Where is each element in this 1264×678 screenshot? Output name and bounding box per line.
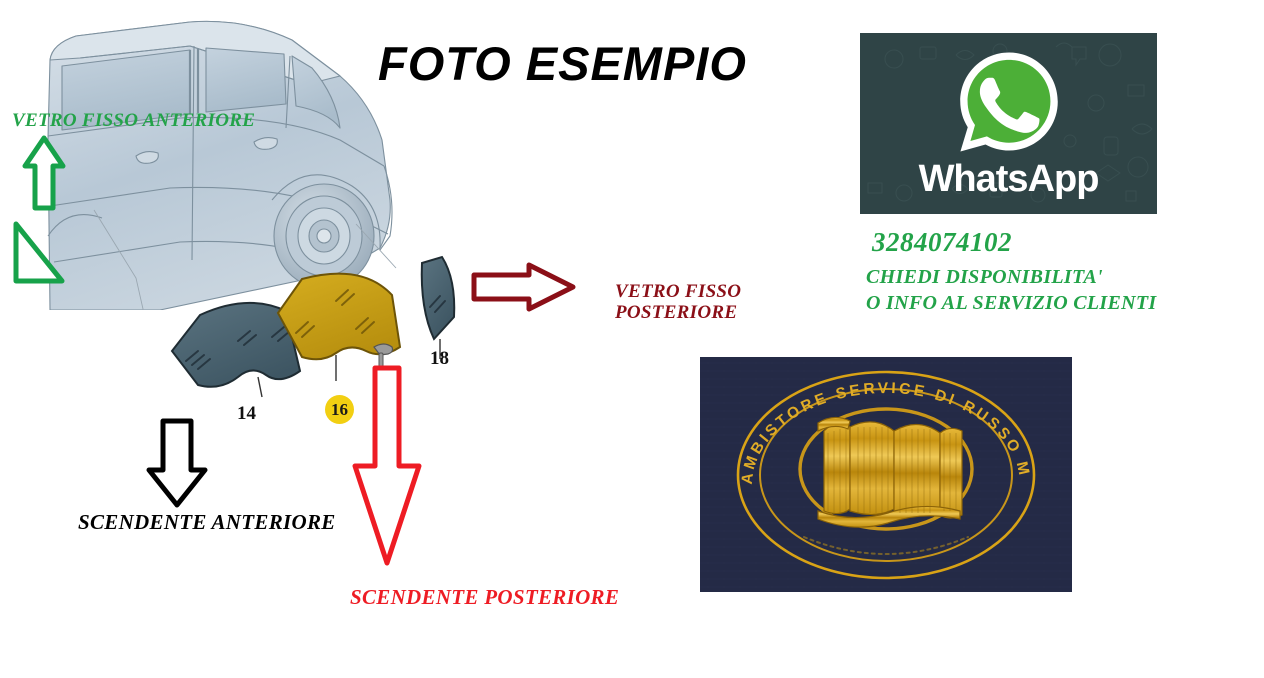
part-number-16-badge: 16 <box>325 395 354 424</box>
part-number-18: 18 <box>430 348 449 370</box>
poster-canvas: FOTO ESEMPIO <box>0 0 1264 678</box>
part-number-17: 17 <box>379 396 398 418</box>
part-18-shape <box>422 257 455 359</box>
label-scendente-posteriore: SCENDENTE POSTERIORE <box>350 586 619 610</box>
label-vetro-fisso-anteriore: VETRO FISSO ANTERIORE <box>12 110 255 131</box>
whatsapp-logo-icon <box>954 47 1064 157</box>
contact-cta-text: CHIEDI DISPONIBILITA' O INFO AL SERVIZIO… <box>866 264 1156 317</box>
whatsapp-wordmark: WhatsApp <box>860 158 1157 201</box>
exploded-glass-parts <box>150 255 490 435</box>
whatsapp-banner: WhatsApp <box>860 33 1157 214</box>
label-scendente-anteriore: SCENDENTE ANTERIORE <box>78 511 336 535</box>
label-vetro-fisso-posteriore: VETRO FISSO POSTERIORE <box>615 281 741 324</box>
part-17-shape <box>374 344 393 383</box>
shop-emblem: MRICAMBISTORE SERVICE DI RUSSO MARCO <box>700 357 1072 592</box>
part-number-14: 14 <box>237 403 256 425</box>
shop-logo-photo: MRICAMBISTORE SERVICE DI RUSSO MARCO <box>700 357 1072 592</box>
phone-number[interactable]: 3284074102 <box>872 227 1012 258</box>
